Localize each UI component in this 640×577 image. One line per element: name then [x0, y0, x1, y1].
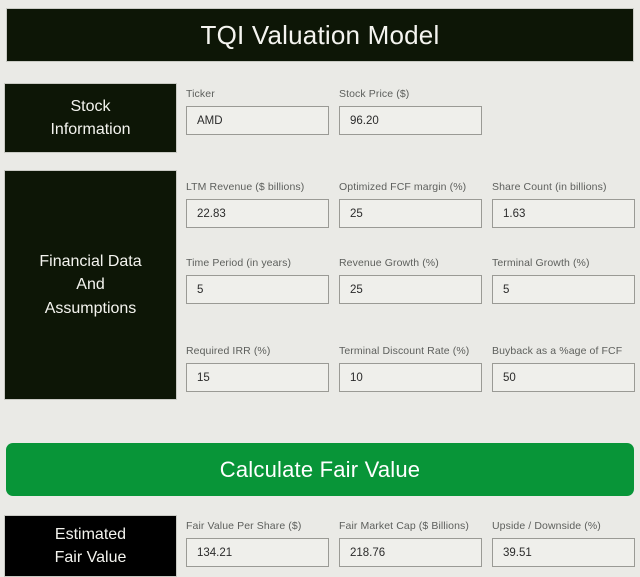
valuation-model-app: TQI Valuation Model Stock Information Ti…	[0, 0, 640, 577]
field-label-ltm-revenue: LTM Revenue ($ billions)	[186, 181, 329, 193]
input-terminal-discount-rate[interactable]	[339, 363, 482, 392]
field-label-fair-value-per-share: Fair Value Per Share ($)	[186, 520, 329, 532]
field-label-terminal-growth: Terminal Growth (%)	[492, 257, 635, 269]
section-label-financial-data: Financial Data And Assumptions	[4, 170, 177, 400]
field-label-time-period: Time Period (in years)	[186, 257, 329, 269]
input-fair-market-cap[interactable]	[339, 538, 482, 567]
field-label-ticker: Ticker	[186, 88, 329, 100]
field-label-optimized-fcf-margin: Optimized FCF margin (%)	[339, 181, 482, 193]
field-upside-downside: Upside / Downside (%)	[492, 520, 635, 567]
field-stock-price: Stock Price ($)	[339, 88, 482, 135]
field-fair-market-cap: Fair Market Cap ($ Billions)	[339, 520, 482, 567]
field-share-count: Share Count (in billions)	[492, 181, 635, 228]
field-label-revenue-growth: Revenue Growth (%)	[339, 257, 482, 269]
field-optimized-fcf-margin: Optimized FCF margin (%)	[339, 181, 482, 228]
input-ltm-revenue[interactable]	[186, 199, 329, 228]
input-terminal-growth[interactable]	[492, 275, 635, 304]
page-title-bar: TQI Valuation Model	[6, 8, 634, 62]
field-ltm-revenue: LTM Revenue ($ billions)	[186, 181, 329, 228]
input-buyback-pct-of-fcf[interactable]	[492, 363, 635, 392]
field-label-fair-market-cap: Fair Market Cap ($ Billions)	[339, 520, 482, 532]
field-revenue-growth: Revenue Growth (%)	[339, 257, 482, 304]
input-time-period[interactable]	[186, 275, 329, 304]
calculate-fair-value-button[interactable]: Calculate Fair Value	[6, 443, 634, 496]
input-required-irr[interactable]	[186, 363, 329, 392]
field-terminal-discount-rate: Terminal Discount Rate (%)	[339, 345, 482, 392]
input-revenue-growth[interactable]	[339, 275, 482, 304]
field-terminal-growth: Terminal Growth (%)	[492, 257, 635, 304]
field-label-terminal-discount-rate: Terminal Discount Rate (%)	[339, 345, 482, 357]
field-required-irr: Required IRR (%)	[186, 345, 329, 392]
input-share-count[interactable]	[492, 199, 635, 228]
section-label-financial-data-text: Financial Data And Assumptions	[39, 250, 141, 320]
section-label-stock-information-text: Stock Information	[50, 95, 130, 141]
field-label-required-irr: Required IRR (%)	[186, 345, 329, 357]
input-ticker[interactable]	[186, 106, 329, 135]
field-label-share-count: Share Count (in billions)	[492, 181, 635, 193]
field-label-stock-price: Stock Price ($)	[339, 88, 482, 100]
field-ticker: Ticker	[186, 88, 329, 135]
field-buyback-pct-of-fcf: Buyback as a %age of FCF	[492, 345, 635, 392]
field-time-period: Time Period (in years)	[186, 257, 329, 304]
input-stock-price[interactable]	[339, 106, 482, 135]
input-optimized-fcf-margin[interactable]	[339, 199, 482, 228]
field-fair-value-per-share: Fair Value Per Share ($)	[186, 520, 329, 567]
section-label-stock-information: Stock Information	[4, 83, 177, 153]
section-label-estimated-fair-value-text: Estimated Fair Value	[55, 523, 127, 569]
field-label-upside-downside: Upside / Downside (%)	[492, 520, 635, 532]
input-fair-value-per-share[interactable]	[186, 538, 329, 567]
input-upside-downside[interactable]	[492, 538, 635, 567]
field-label-buyback-pct-of-fcf: Buyback as a %age of FCF	[492, 345, 635, 357]
section-label-estimated-fair-value: Estimated Fair Value	[4, 515, 177, 577]
page-title: TQI Valuation Model	[201, 22, 440, 48]
